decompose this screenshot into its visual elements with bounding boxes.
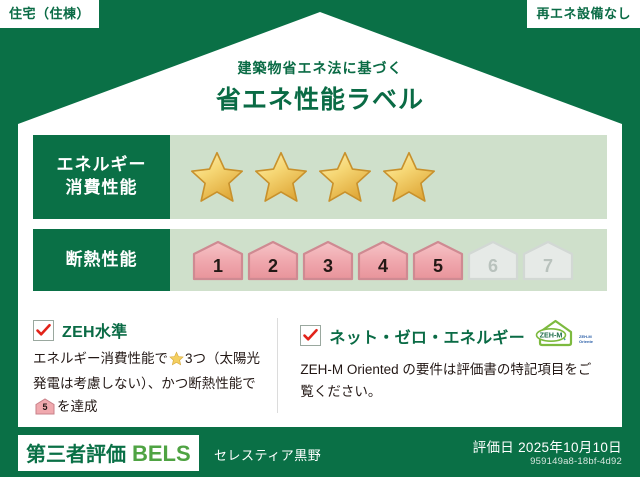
title-subtitle: 建築物省エネ法に基づく <box>0 58 640 78</box>
star-icon-inline <box>169 354 184 369</box>
grade-house-1: 1 <box>192 240 244 281</box>
row-energy-label-line1: エネルギー <box>57 154 147 177</box>
row-insulation-label-line1: 断熱性能 <box>66 249 138 272</box>
evaluation-id: 959149a8-18bf-4d92 <box>530 456 622 467</box>
grade-house-2: 2 <box>247 240 299 281</box>
grade-house-7: 7 <box>522 240 574 281</box>
grade-house-5: 5 <box>412 240 464 281</box>
bels-en-label: BELS <box>132 441 191 467</box>
grade-house-3: 3 <box>302 240 354 281</box>
evaluation-date: 評価日 2025年10月10日 <box>473 436 622 456</box>
note-nze-body: ZEH-M Oriented の要件は評価書の特記項目をご覧ください。 <box>300 359 593 404</box>
note-net-zero-energy: ネット・ゼロ・エネルギー ZEH-M ZEH-M Oriented ZEH-M … <box>277 318 607 413</box>
row-insulation-grades: 1234567 <box>170 229 607 291</box>
grade-house-number: 3 <box>302 256 354 277</box>
svg-text:ZEH-M: ZEH-M <box>540 331 563 340</box>
grade-house-4: 4 <box>357 240 409 281</box>
note-zeh-body-part1: エネルギー消費性能で <box>33 351 168 366</box>
label-root: 住宅（住棟） 再エネ設備なし 建築物省エネ法に基づく 省エネ性能ラベル エネルギ… <box>0 0 640 477</box>
note-nze-title: ネット・ゼロ・エネルギー <box>329 324 525 348</box>
star-icon <box>252 149 310 205</box>
grade-house-number: 4 <box>357 256 409 277</box>
check-icon <box>300 325 321 346</box>
note-zeh-header: ZEH水準 <box>33 318 263 342</box>
grade-house-number: 1 <box>192 256 244 277</box>
zeh-m-logo-icon: ZEH-M ZEH-M Oriented <box>535 318 593 353</box>
row-insulation-performance: 断熱性能 1234567 <box>33 229 607 291</box>
star-icon <box>188 149 246 205</box>
grade-house-number: 7 <box>522 256 574 277</box>
bels-jp-label: 第三者評価 <box>26 438 126 467</box>
row-energy-label: エネルギー 消費性能 <box>33 135 170 219</box>
page-title: 省エネ性能ラベル <box>0 80 640 116</box>
note-zeh-standard: ZEH水準 エネルギー消費性能で3つ（太陽光発電は考慮しない）、かつ断熱性能で5… <box>33 318 277 413</box>
performance-rows: エネルギー 消費性能 断熱性能 1234567 <box>33 135 607 301</box>
note-zeh-title: ZEH水準 <box>62 318 128 342</box>
building-name: セレスティア黒野 <box>214 445 321 464</box>
check-icon <box>33 320 54 341</box>
notes-area: ZEH水準 エネルギー消費性能で3つ（太陽光発電は考慮しない）、かつ断熱性能で5… <box>33 318 607 413</box>
note-zeh-body: エネルギー消費性能で3つ（太陽光発電は考慮しない）、かつ断熱性能で5を達成 <box>33 348 263 418</box>
row-energy-performance: エネルギー 消費性能 <box>33 135 607 219</box>
grade-house-icon-inline: 5 <box>35 398 55 415</box>
grade-house-6: 6 <box>467 240 519 281</box>
note-zeh-body-part3: を達成 <box>57 399 98 414</box>
grade-house-number: 6 <box>467 256 519 277</box>
row-energy-stars <box>170 135 607 219</box>
svg-text:Oriented: Oriented <box>579 339 593 344</box>
star-icon <box>380 149 438 205</box>
star-icon <box>316 149 374 205</box>
grade-house-number: 2 <box>247 256 299 277</box>
note-nze-header: ネット・ゼロ・エネルギー ZEH-M ZEH-M Oriented <box>300 318 593 353</box>
footer-bar: 第三者評価 BELS セレスティア黒野 評価日 2025年10月10日 9591… <box>0 427 640 477</box>
grade-house-number: 5 <box>412 256 464 277</box>
row-energy-label-line2: 消費性能 <box>66 177 138 200</box>
grade-house-icon-number: 5 <box>35 400 55 415</box>
tag-renewable-equipment: 再エネ設備なし <box>527 0 640 28</box>
row-insulation-label: 断熱性能 <box>33 229 170 291</box>
tag-building-type: 住宅（住棟） <box>0 0 99 28</box>
bels-badge: 第三者評価 BELS <box>18 435 199 471</box>
